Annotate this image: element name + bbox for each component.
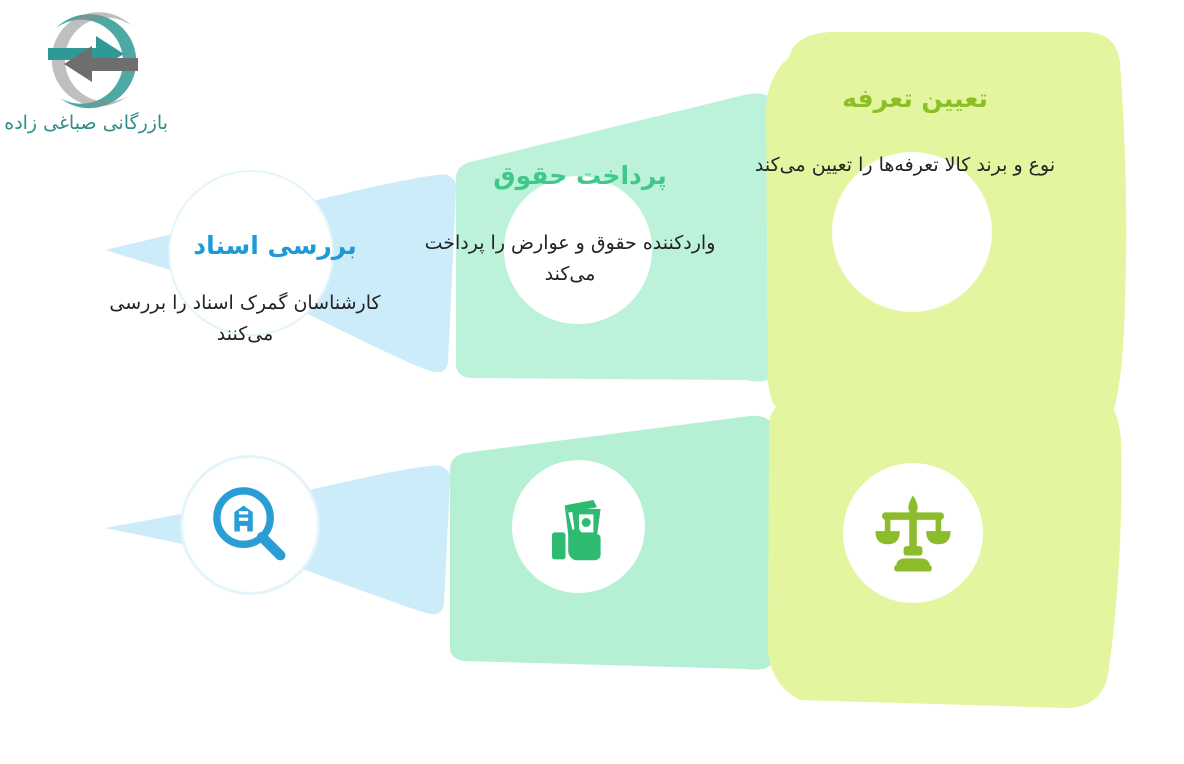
- stage-title-pay-duties: پرداخت حقوق: [455, 161, 705, 190]
- stage-title-review-documents: بررسی اسناد: [150, 231, 400, 260]
- stage-description-pay-duties: واردکننده حقوق و عوارض را پرداخت می‌کند: [420, 228, 720, 290]
- stage-title-determine-tariff: تعیین تعرفه: [790, 84, 1040, 113]
- funnel-shapes: [0, 0, 1184, 764]
- brand-name: بازرگانی صباغی زاده: [18, 112, 168, 134]
- stage-description-review-documents: کارشناسان گمرک اسناد را بررسی می‌کنند: [90, 288, 400, 350]
- brand-logo[interactable]: بازرگانی صباغی زاده: [18, 8, 168, 148]
- stage-icon-circle-determine-tariff[interactable]: [843, 463, 983, 603]
- stage-description-determine-tariff: نوع و برند کالا تعرفه‌ها را تعیین می‌کند: [745, 150, 1065, 181]
- infographic-canvas: بازرگانی صباغی زاده بررسی اسناد کارشناسا…: [0, 0, 1184, 764]
- balance-scale-icon: [866, 486, 960, 580]
- hand-cash-payment-icon: [534, 482, 624, 572]
- recycle-arrows-logo-icon: [18, 8, 168, 118]
- document-magnifier-icon: [204, 479, 296, 571]
- stage-icon-circle-review-documents[interactable]: [183, 458, 317, 592]
- stage-icon-circle-pay-duties[interactable]: [512, 460, 645, 593]
